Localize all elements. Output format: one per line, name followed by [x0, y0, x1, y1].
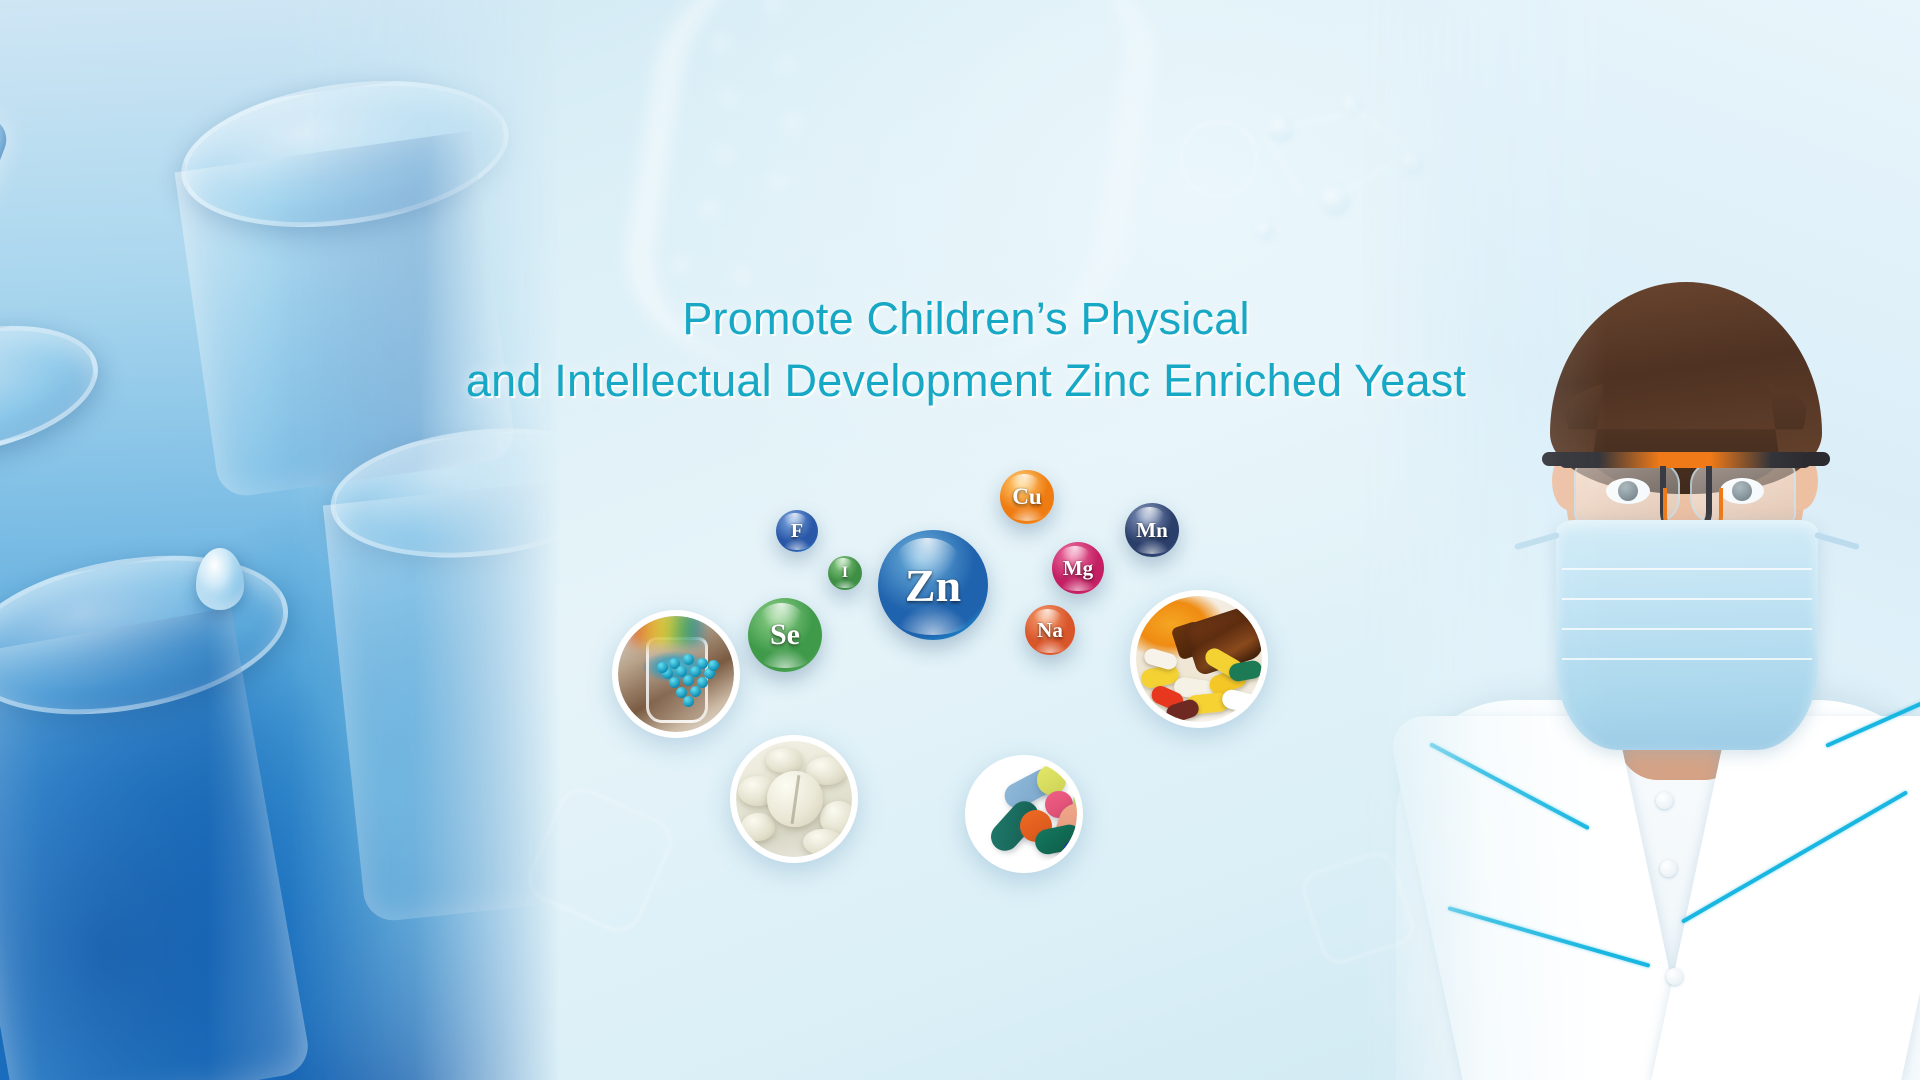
- laboratory-glassware-photo: [0, 0, 560, 1080]
- element-symbol: I: [842, 564, 848, 582]
- element-sphere-fluorine: F: [776, 510, 818, 552]
- surgical-mask: [1556, 520, 1818, 750]
- element-sphere-iodine: I: [828, 556, 862, 590]
- product-photo-assorted-capsules: [965, 755, 1083, 873]
- element-symbol: Cu: [1012, 484, 1041, 510]
- hex-motif-c: [1180, 120, 1258, 198]
- safety-glasses-temple-left: [1542, 452, 1570, 466]
- lab-coat-button-3: [1656, 792, 1673, 809]
- product-photo-white-tablets: [730, 735, 858, 863]
- page-title: Promote Children’s Physical and Intellec…: [0, 288, 1920, 412]
- safety-glasses-temple-right: [1802, 452, 1830, 466]
- element-sphere-copper: Cu: [1000, 470, 1054, 524]
- element-sphere-selenium: Se: [748, 598, 822, 672]
- nutrient-cluster: ZnSeCuMnMgNaFI: [560, 470, 1260, 910]
- element-sphere-zinc: Zn: [878, 530, 988, 640]
- element-symbol: Se: [770, 618, 800, 652]
- element-symbol: Na: [1037, 618, 1063, 643]
- element-sphere-manganese: Mn: [1125, 503, 1179, 557]
- element-symbol: Mg: [1063, 556, 1093, 581]
- element-symbol: Mn: [1136, 518, 1168, 543]
- lab-coat-button-1: [1660, 860, 1677, 877]
- banner-stage: Promote Children’s Physical and Intellec…: [0, 0, 1920, 1080]
- product-photo-blue-crystals-in-beaker: [612, 610, 740, 738]
- product-photo-pill-bottle-spilling: [1130, 590, 1268, 728]
- lab-coat-button-2: [1666, 968, 1683, 985]
- element-symbol: F: [791, 520, 803, 543]
- element-sphere-sodium: Na: [1025, 605, 1075, 655]
- element-symbol: Zn: [905, 559, 961, 612]
- element-sphere-magnesium: Mg: [1052, 542, 1104, 594]
- scientist-photo: [1360, 0, 1920, 1080]
